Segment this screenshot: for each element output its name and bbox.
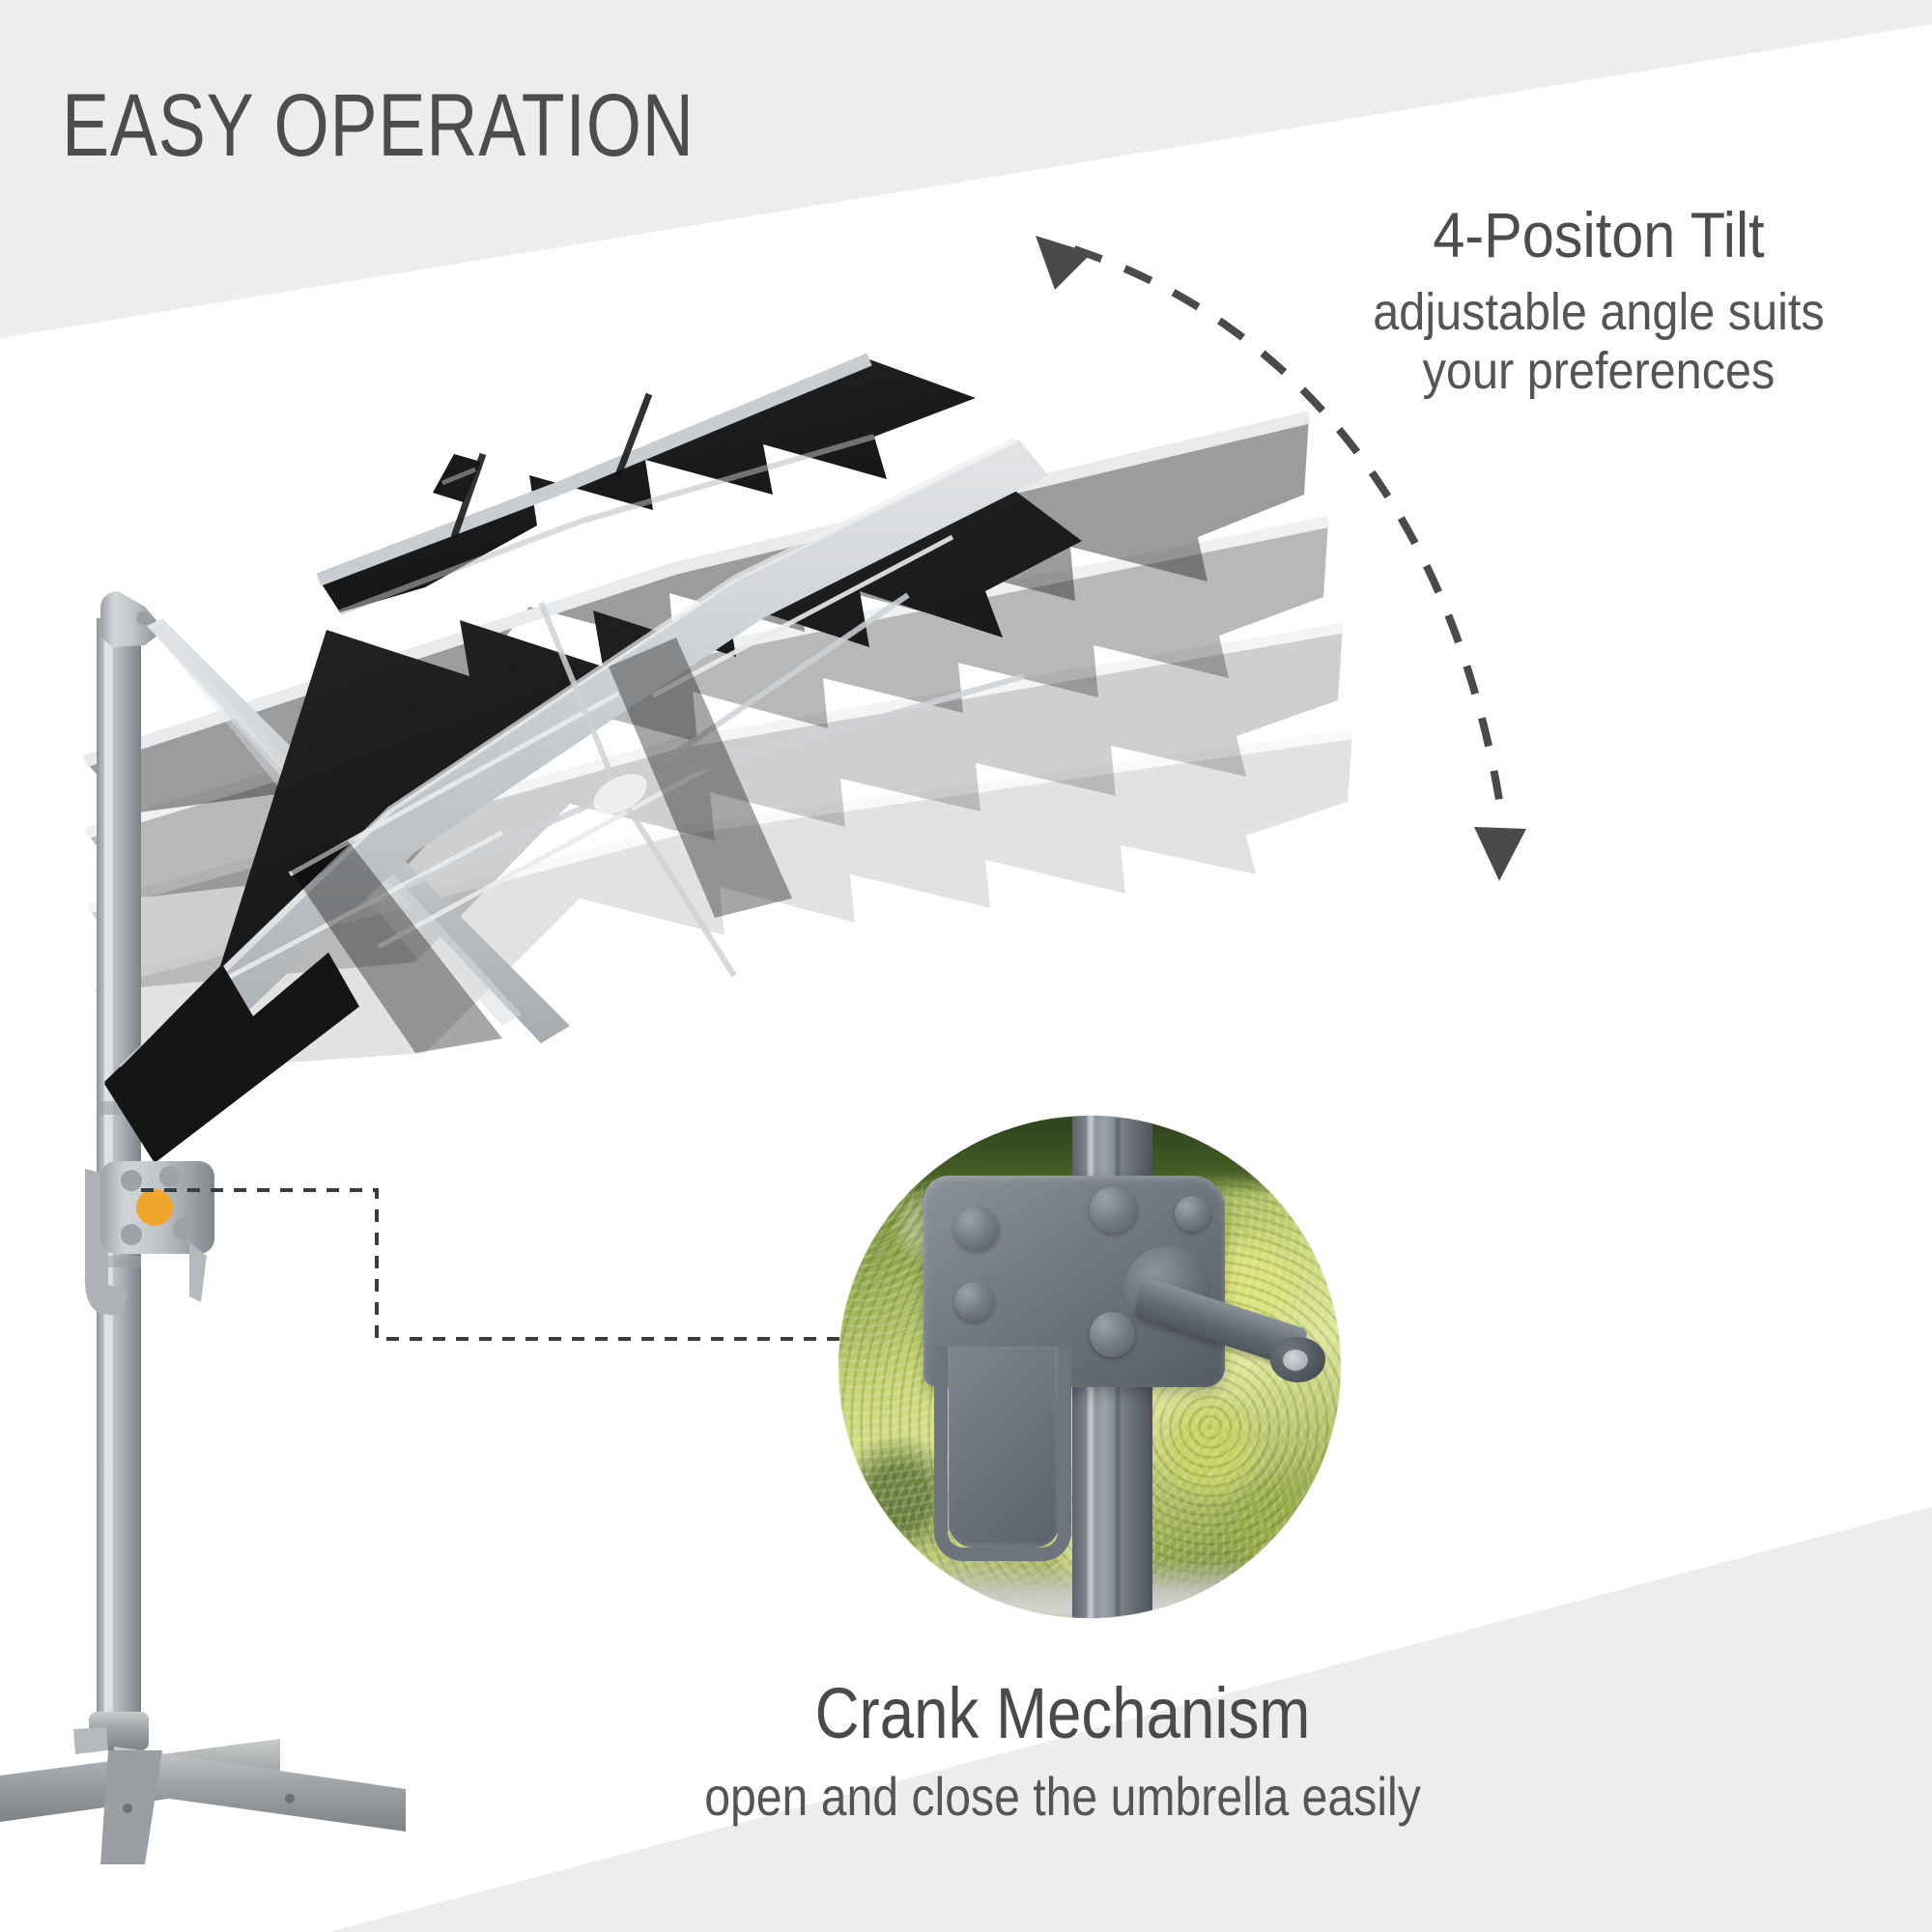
crank-callout: Crank Mechanism open and close the umbre… [483, 1676, 1642, 1826]
orange-dot-marker-icon [136, 1189, 173, 1226]
tilt-callout-subtitle-line1: adjustable angle suits [1373, 283, 1824, 341]
photo-crank-screw [1283, 1350, 1308, 1371]
tilt-callout-title: 4-Positon Tilt [1299, 201, 1899, 270]
tilt-callout-subtitle: adjustable angle suits your preferences [1299, 283, 1899, 400]
photo-bolt [1175, 1196, 1209, 1231]
photo-bolt [1090, 1312, 1135, 1357]
crank-mechanism-photo [838, 1116, 1341, 1618]
page-title: EASY OPERATION [62, 75, 695, 177]
photo-handle-loop [934, 1347, 1071, 1561]
pole-top-knuckle [100, 591, 164, 647]
tilt-crank-housing [85, 1161, 214, 1316]
photo-bolt [954, 1282, 995, 1322]
canopy-finial-icon [433, 454, 481, 502]
crank-callout-title: Crank Mechanism [564, 1676, 1561, 1751]
crank-callout-subtitle: open and close the umbrella easily [564, 1767, 1561, 1827]
tilt-callout: 4-Positon Tilt adjustable angle suits yo… [1265, 201, 1932, 400]
cross-base [0, 1712, 406, 1864]
tilt-callout-subtitle-line2: your preferences [1299, 342, 1899, 400]
infographic-canvas: EASY OPERATION 4-Positon Tilt adjustable… [0, 0, 1932, 1932]
